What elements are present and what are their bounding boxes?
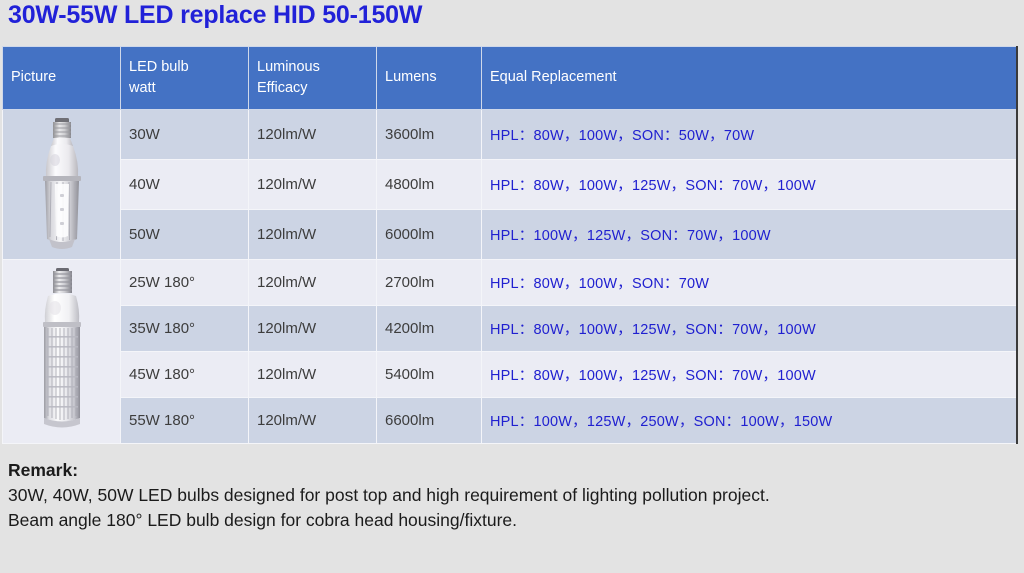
- table-row: 40W 120lm/W 4800lm HPL：80W，100W，125W，SON…: [3, 160, 1018, 210]
- remark-block: Remark: 30W, 40W, 50W LED bulbs designed…: [8, 458, 1016, 533]
- header-lumens-line1: Lumens: [385, 69, 437, 85]
- header-led-bulb-watt: LED bulb watt: [121, 47, 249, 110]
- picture-cell-corn: [3, 260, 121, 444]
- cell-efficacy: 120lm/W: [249, 110, 377, 160]
- cell-replacement: HPL：80W，100W，125W，SON：70W，100W: [482, 160, 1018, 210]
- header-luminous-efficacy-line2: Efficacy: [257, 78, 368, 99]
- header-equal-replacement-line1: Equal Replacement: [490, 69, 617, 85]
- cell-replacement: HPL：100W，125W，250W，SON：100W，150W: [482, 398, 1018, 444]
- cell-efficacy: 120lm/W: [249, 260, 377, 306]
- post-top-led-bulb-image: [3, 116, 120, 254]
- cell-watt: 50W: [121, 210, 249, 260]
- remark-line-2: Beam angle 180° LED bulb design for cobr…: [8, 508, 1016, 533]
- cell-lumens: 4200lm: [377, 306, 482, 352]
- cell-watt: 25W 180°: [121, 260, 249, 306]
- cell-efficacy: 120lm/W: [249, 306, 377, 352]
- header-luminous-efficacy: Luminous Efficacy: [249, 47, 377, 110]
- corn-led-bulb-image: [3, 266, 120, 438]
- remark-line-1: 30W, 40W, 50W LED bulbs designed for pos…: [8, 483, 1016, 508]
- cell-watt: 45W 180°: [121, 352, 249, 398]
- cell-replacement: HPL：80W，100W，SON：70W: [482, 260, 1018, 306]
- cell-lumens: 6600lm: [377, 398, 482, 444]
- table-row: 35W 180° 120lm/W 4200lm HPL：80W，100W，125…: [3, 306, 1018, 352]
- cell-lumens: 2700lm: [377, 260, 482, 306]
- table-header-row: Picture LED bulb watt Luminous Efficacy …: [3, 47, 1018, 110]
- table-row: 25W 180° 120lm/W 2700lm HPL：80W，100W，SON…: [3, 260, 1018, 306]
- header-picture: Picture: [3, 47, 121, 110]
- cell-efficacy: 120lm/W: [249, 160, 377, 210]
- cell-lumens: 6000lm: [377, 210, 482, 260]
- cell-watt: 30W: [121, 110, 249, 160]
- cell-watt: 35W 180°: [121, 306, 249, 352]
- cell-replacement: HPL：100W，125W，SON：70W，100W: [482, 210, 1018, 260]
- cell-efficacy: 120lm/W: [249, 398, 377, 444]
- page-title: 30W-55W LED replace HID 50-150W: [8, 1, 422, 30]
- header-led-bulb-watt-line1: LED bulb: [129, 59, 189, 75]
- cell-watt: 55W 180°: [121, 398, 249, 444]
- cell-lumens: 3600lm: [377, 110, 482, 160]
- table-row: 45W 180° 120lm/W 5400lm HPL：80W，100W，125…: [3, 352, 1018, 398]
- table-row: 30W 120lm/W 3600lm HPL：80W，100W，SON：50W，…: [3, 110, 1018, 160]
- post-top-bulb-svg: [26, 116, 98, 254]
- cell-replacement: HPL：80W，100W，SON：50W，70W: [482, 110, 1018, 160]
- cell-lumens: 4800lm: [377, 160, 482, 210]
- cell-lumens: 5400lm: [377, 352, 482, 398]
- remark-heading: Remark:: [8, 458, 1016, 483]
- header-led-bulb-watt-line2: watt: [129, 78, 240, 99]
- cell-efficacy: 120lm/W: [249, 352, 377, 398]
- header-equal-replacement: Equal Replacement: [482, 47, 1018, 110]
- header-luminous-efficacy-line1: Luminous: [257, 59, 320, 75]
- cell-replacement: HPL：80W，100W，125W，SON：70W，100W: [482, 306, 1018, 352]
- led-spec-table: Picture LED bulb watt Luminous Efficacy …: [2, 46, 1018, 444]
- cell-efficacy: 120lm/W: [249, 210, 377, 260]
- table-row: 55W 180° 120lm/W 6600lm HPL：100W，125W，25…: [3, 398, 1018, 444]
- corn-bulb-svg: [26, 266, 98, 438]
- cell-watt: 40W: [121, 160, 249, 210]
- table-row: 50W 120lm/W 6000lm HPL：100W，125W，SON：70W…: [3, 210, 1018, 260]
- picture-cell-post-top: [3, 110, 121, 260]
- header-lumens: Lumens: [377, 47, 482, 110]
- cell-replacement: HPL：80W，100W，125W，SON：70W，100W: [482, 352, 1018, 398]
- header-picture-line1: Picture: [11, 69, 56, 85]
